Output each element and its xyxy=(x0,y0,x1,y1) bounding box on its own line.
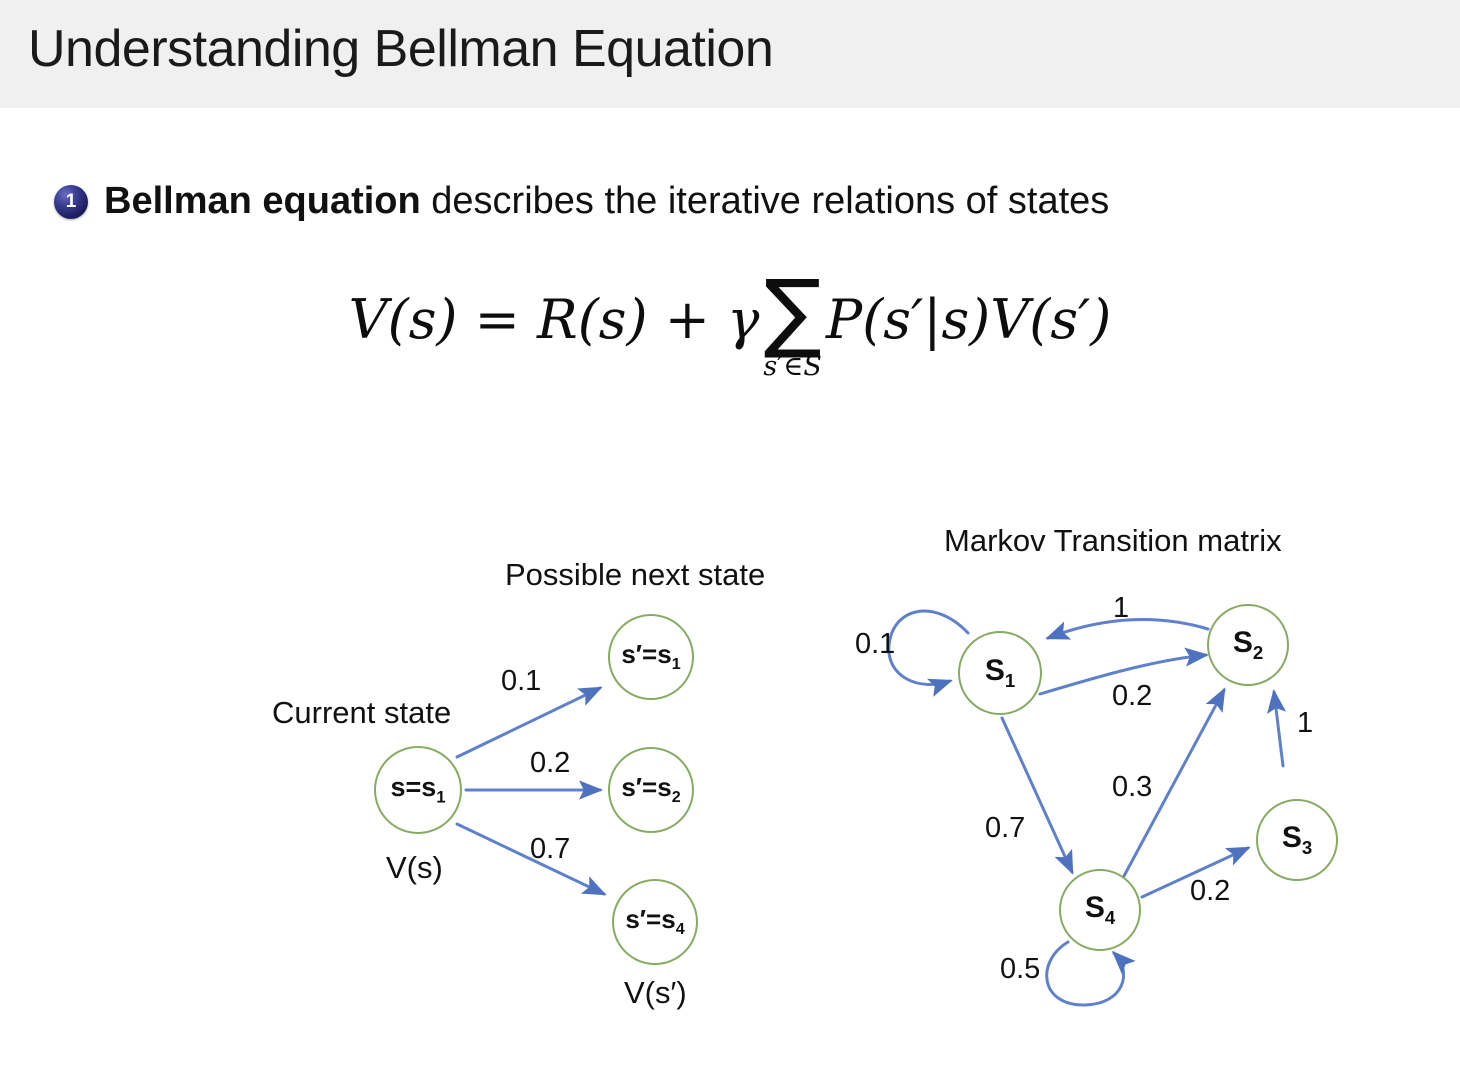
page-title: Understanding Bellman Equation xyxy=(28,19,773,79)
node-next-state-1-text: s′=s xyxy=(621,639,671,669)
edge-label-s1-self: 0.1 xyxy=(855,628,895,661)
node-s3-text: S xyxy=(1282,821,1302,854)
edge-s1-to-s4 xyxy=(1002,718,1072,872)
node-next-state-4-sub: 4 xyxy=(676,921,685,939)
formula-summation: ∑s′∈S xyxy=(763,278,821,382)
node-s1-text: S xyxy=(985,654,1005,687)
node-current-state-text: s=s xyxy=(390,772,436,802)
bullet-row: 1 Bellman equation describes the iterati… xyxy=(54,180,1109,223)
edge-s1-self-loop xyxy=(889,611,968,684)
node-next-state-4[interactable]: s′=s4 xyxy=(612,879,698,965)
node-s3-sub: 3 xyxy=(1302,837,1312,858)
bullet-number-icon: 1 xyxy=(54,185,88,219)
bellman-equation-formula: V(s) = R(s) + γ∑s′∈SP(s′|s)V(s′) xyxy=(0,272,1460,376)
node-next-state-2-text: s′=s xyxy=(621,772,671,802)
node-s4-sub: 4 xyxy=(1105,907,1115,928)
formula-lhs: V(s) = R(s) + xyxy=(349,288,728,351)
bullet-text: Bellman equation describes the iterative… xyxy=(104,180,1109,223)
edge-label-left-1: 0.2 xyxy=(530,747,570,780)
node-current-state-sub: 1 xyxy=(436,787,445,806)
node-current-state[interactable]: s=s1 xyxy=(374,746,462,834)
current-state-label: Current state xyxy=(272,695,451,731)
node-s2[interactable]: S2 xyxy=(1207,604,1289,686)
node-next-state-4-text: s′=s xyxy=(625,904,675,934)
formula-rhs: P(s′|s)V(s′) xyxy=(826,288,1111,351)
right-diagram-heading: Markov Transition matrix xyxy=(944,523,1282,559)
edge-label-left-0: 0.1 xyxy=(501,665,541,698)
edge-label-s3-s2: 1 xyxy=(1297,707,1313,740)
node-s2-sub: 2 xyxy=(1253,642,1263,663)
node-s1[interactable]: S1 xyxy=(958,631,1042,715)
value-label-next: V(s′) xyxy=(624,975,687,1011)
edge-label-s2-s1: 1 xyxy=(1113,592,1129,625)
node-s2-text: S xyxy=(1233,626,1253,659)
edge-label-s4-s3: 0.2 xyxy=(1190,875,1230,908)
node-next-state-2-sub: 2 xyxy=(672,789,681,807)
bullet-rest-phrase: describes the iterative relations of sta… xyxy=(421,180,1110,222)
edge-label-s1-s4: 0.7 xyxy=(985,812,1025,845)
edge-cur-to-next1 xyxy=(457,688,600,757)
edge-label-left-2: 0.7 xyxy=(530,833,570,866)
formula-gamma: γ xyxy=(727,288,759,351)
node-s3[interactable]: S3 xyxy=(1256,799,1338,881)
left-diagram-heading: Possible next state xyxy=(505,557,765,593)
sigma-icon: ∑ xyxy=(764,278,822,347)
edge-label-s1-s2: 0.2 xyxy=(1112,680,1152,713)
node-s4-text: S xyxy=(1085,891,1105,924)
edge-s3-to-s2 xyxy=(1274,692,1283,766)
edge-s4-self-loop xyxy=(1047,942,1124,1005)
node-s4[interactable]: S4 xyxy=(1059,869,1141,951)
edge-label-s4-self: 0.5 xyxy=(1000,953,1040,986)
bullet-bold-phrase: Bellman equation xyxy=(104,180,421,222)
edge-label-s4-s2: 0.3 xyxy=(1112,771,1152,804)
node-next-state-1[interactable]: s′=s1 xyxy=(608,614,694,700)
formula-sum-subscript: s′∈S xyxy=(763,351,821,382)
node-next-state-2[interactable]: s′=s2 xyxy=(608,747,694,833)
node-next-state-1-sub: 1 xyxy=(672,656,681,674)
node-s1-sub: 1 xyxy=(1005,670,1015,691)
value-label-current: V(s) xyxy=(386,850,443,886)
